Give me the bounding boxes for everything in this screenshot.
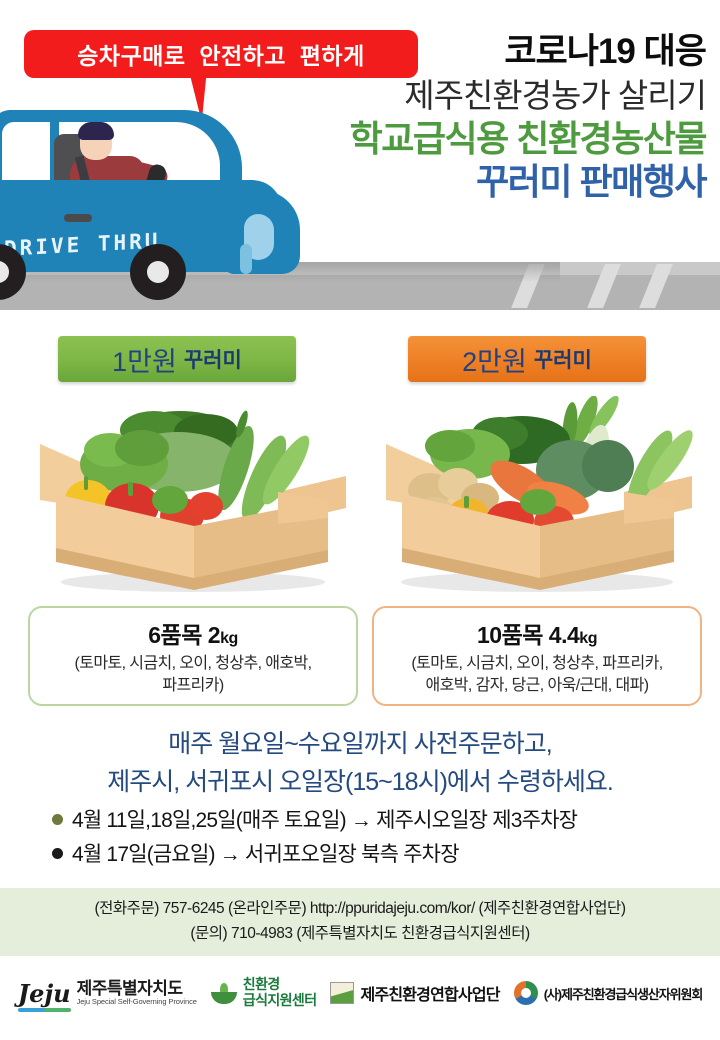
headline-block: 코로나19 대응 제주친환경농가 살리기 학교급식용 친환경농산물 꾸러미 판매… xyxy=(236,34,706,203)
jeju-name-block: 제주특별자치도 Jeju Special Self-Governing Prov… xyxy=(77,980,197,1007)
eco-center-name: 친환경 급식지원센터 xyxy=(243,977,317,1008)
truck-door-handle xyxy=(64,214,92,222)
truck-front-wheel xyxy=(130,244,186,300)
headline-green: 학교급식용 친환경농산물 xyxy=(236,118,706,159)
bowl-sprout-icon xyxy=(211,980,237,1006)
bowl-icon xyxy=(211,992,237,1004)
headline-corona: 코로나19 대응 xyxy=(236,34,706,71)
jeju-wordmark: Jeju xyxy=(18,979,71,1008)
logo-producer-committee: (사)제주친환경급식생산자위원회 xyxy=(514,981,703,1005)
headline-subtitle: 제주친환경농가 살리기 xyxy=(236,75,706,116)
package-items-line2: 파프리카) xyxy=(162,675,223,697)
badge-suffix: 꾸러미 xyxy=(184,344,242,374)
wheel-hub xyxy=(147,261,169,283)
badge-amount: 1만원 xyxy=(112,340,177,379)
package-badges: 1만원 꾸러미 2만원 꾸러미 xyxy=(0,336,720,388)
package-items-line1: (토마토, 시금치, 오이, 청상추, 애호박, xyxy=(74,653,311,675)
package-title: 6품목 2kg xyxy=(148,616,237,650)
jeju-underline-icon xyxy=(18,1008,71,1012)
headline-blue: 꾸러미 판매행사 xyxy=(236,161,706,202)
contact-line-1: (전화주문) 757-6245 (온라인주문) http://ppuridaje… xyxy=(95,897,626,922)
package-card-10000: 6품목 2kg (토마토, 시금치, 오이, 청상추, 애호박, 파프리카) xyxy=(28,606,358,706)
package-weight-unit: kg xyxy=(579,630,597,647)
order-notice: 매주 월요일~수요일까지 사전주문하고, 제주시, 서귀포시 오일장(15~18… xyxy=(0,726,720,801)
vegetable-box-20000-image xyxy=(372,396,702,594)
contact-band: (전화주문) 757-6245 (온라인주문) http://ppuridaje… xyxy=(0,888,720,956)
globe-icon xyxy=(514,981,538,1005)
logo-eco-union: 제주친환경연합사업단 xyxy=(330,981,499,1005)
eco-center-line2: 급식지원센터 xyxy=(243,993,317,1009)
package-card-20000: 10품목 4.4kg (토마토, 시금치, 오이, 청상추, 파프리카, 애호박… xyxy=(372,606,702,706)
package-items-line1: (토마토, 시금치, 오이, 청상추, 파프리카, xyxy=(411,653,662,675)
jeju-name-kr: 제주특별자치도 xyxy=(77,980,197,999)
jeju-name-en: Jeju Special Self-Governing Province xyxy=(77,998,197,1006)
producer-committee-name: (사)제주친환경급식생산자위원회 xyxy=(544,984,703,1003)
badge-amount: 2만원 xyxy=(462,340,527,379)
pickup-schedule-list: 4월 11일,18일,25일(매주 토요일) → 제주시오일장 제3주차장 4월… xyxy=(52,806,712,875)
poster-root: 승차구매로 안전하고 편하게 DRIVE THRU xyxy=(0,0,720,1040)
vegetable-box-photos xyxy=(0,396,720,596)
package-title: 10품목 4.4kg xyxy=(477,616,597,650)
badge-suffix: 꾸러미 xyxy=(534,344,592,374)
schedule-text: 4월 11일,18일,25일(매주 토요일) → 제주시오일장 제3주차장 xyxy=(72,806,577,835)
list-item: 4월 17일(금요일) → 서귀포오일장 북측 주차장 xyxy=(52,840,712,869)
package-count: 10품목 4.4 xyxy=(477,622,579,648)
notice-line-2: 제주시, 서귀포시 오일장(15~18시)에서 수령하세요. xyxy=(0,764,720,802)
badge-package-20000[interactable]: 2만원 꾸러미 xyxy=(408,336,646,382)
bullet-dot-icon xyxy=(52,814,63,825)
badge-package-10000[interactable]: 1만원 꾸러미 xyxy=(58,336,296,382)
contact-line-2: (문의) 710-4983 (제주특별자치도 친환경급식지원센터) xyxy=(190,922,529,947)
truck-bumper-light-icon xyxy=(240,244,252,274)
wheel-hub xyxy=(0,261,9,283)
rice-hill-icon xyxy=(330,989,354,1004)
eco-union-name: 제주친환경연합사업단 xyxy=(360,981,499,1005)
package-detail-cards: 6품목 2kg (토마토, 시금치, 오이, 청상추, 애호박, 파프리카) 1… xyxy=(0,606,720,710)
schedule-text: 4월 17일(금요일) → 서귀포오일장 북측 주차장 xyxy=(72,840,459,869)
notice-line-1: 매주 월요일~수요일까지 사전주문하고, xyxy=(0,726,720,764)
logo-eco-meal-center: 친환경 급식지원센터 xyxy=(211,977,317,1008)
list-item: 4월 11일,18일,25일(매주 토요일) → 제주시오일장 제3주차장 xyxy=(52,806,712,835)
package-count: 6품목 2 xyxy=(148,622,220,648)
package-items-line2: 애호박, 감자, 당근, 아욱/근대, 대파) xyxy=(426,675,649,697)
hero-section: 승차구매로 안전하고 편하게 DRIVE THRU xyxy=(0,0,720,320)
rice-field-icon xyxy=(330,982,354,1004)
eco-center-line1: 친환경 xyxy=(243,977,317,993)
vegetable-box-10000-image xyxy=(28,396,358,594)
bullet-dot-icon xyxy=(52,848,63,859)
footer-logos: Jeju 제주특별자치도 Jeju Special Self-Governing… xyxy=(0,962,720,1024)
package-weight-unit: kg xyxy=(220,630,238,647)
logo-jeju-province: Jeju 제주특별자치도 Jeju Special Self-Governing… xyxy=(18,979,197,1008)
driver-hair xyxy=(78,122,114,140)
